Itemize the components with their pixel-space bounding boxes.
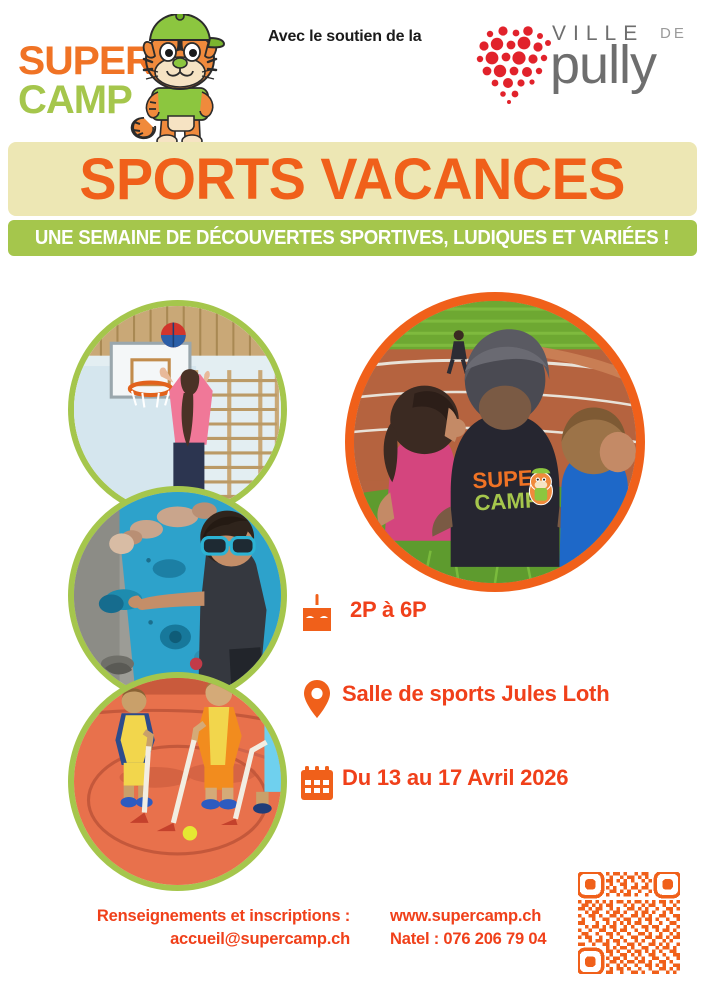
page-subtitle: UNE SEMAINE DE DÉCOUVERTES SPORTIVES, LU… (35, 227, 669, 250)
supercamp-logo: SUPER CAMP (14, 12, 229, 140)
calendar-icon (296, 762, 338, 804)
footer-links-block: www.supercamp.ch Natel : 076 206 79 04 (390, 905, 580, 951)
photo-coach-children: SUPER CAMP (345, 292, 645, 592)
info-row-dates: Du 13 au 17 Avril 2026 (296, 762, 676, 846)
tiger-mascot-icon (122, 14, 228, 150)
info-row-location: Salle de sports Jules Loth (296, 678, 676, 762)
birthday-cake-icon (296, 594, 338, 636)
footer-website[interactable]: www.supercamp.ch (390, 905, 580, 928)
poster-root: SUPER CAMP (0, 0, 705, 1000)
grape-cluster-icon (470, 24, 556, 104)
info-label-age: 2P à 6P (350, 597, 426, 623)
location-pin-icon (296, 678, 338, 720)
qr-code-icon[interactable] (578, 872, 680, 974)
info-row-age: 2P à 6P (296, 594, 676, 678)
pully-name-text: pully (550, 38, 656, 92)
poster-header: SUPER CAMP (0, 0, 705, 140)
page-title: SPORTS VACANCES (80, 146, 626, 213)
photo-hockey (68, 672, 287, 891)
footer-email[interactable]: accueil@supercamp.ch (50, 928, 350, 951)
subtitle-banner: UNE SEMAINE DE DÉCOUVERTES SPORTIVES, LU… (8, 220, 697, 256)
info-label-dates: Du 13 au 17 Avril 2026 (342, 765, 568, 791)
footer-contact-block: Renseignements et inscriptions : accueil… (50, 905, 350, 951)
support-text: Avec le soutien de la (268, 28, 422, 46)
footer-phone[interactable]: Natel : 076 206 79 04 (390, 928, 580, 951)
footer-info-line: Renseignements et inscriptions : (50, 905, 350, 928)
ville-de-pully-logo: VILLE DE pully (470, 18, 690, 104)
pully-wordmark: VILLE DE pully (552, 18, 692, 102)
info-label-location: Salle de sports Jules Loth (342, 681, 609, 707)
info-list: 2P à 6P Salle de sports Jules Loth Du 13… (296, 594, 676, 846)
title-banner: SPORTS VACANCES (8, 142, 697, 216)
pully-de-text: DE (660, 25, 687, 42)
